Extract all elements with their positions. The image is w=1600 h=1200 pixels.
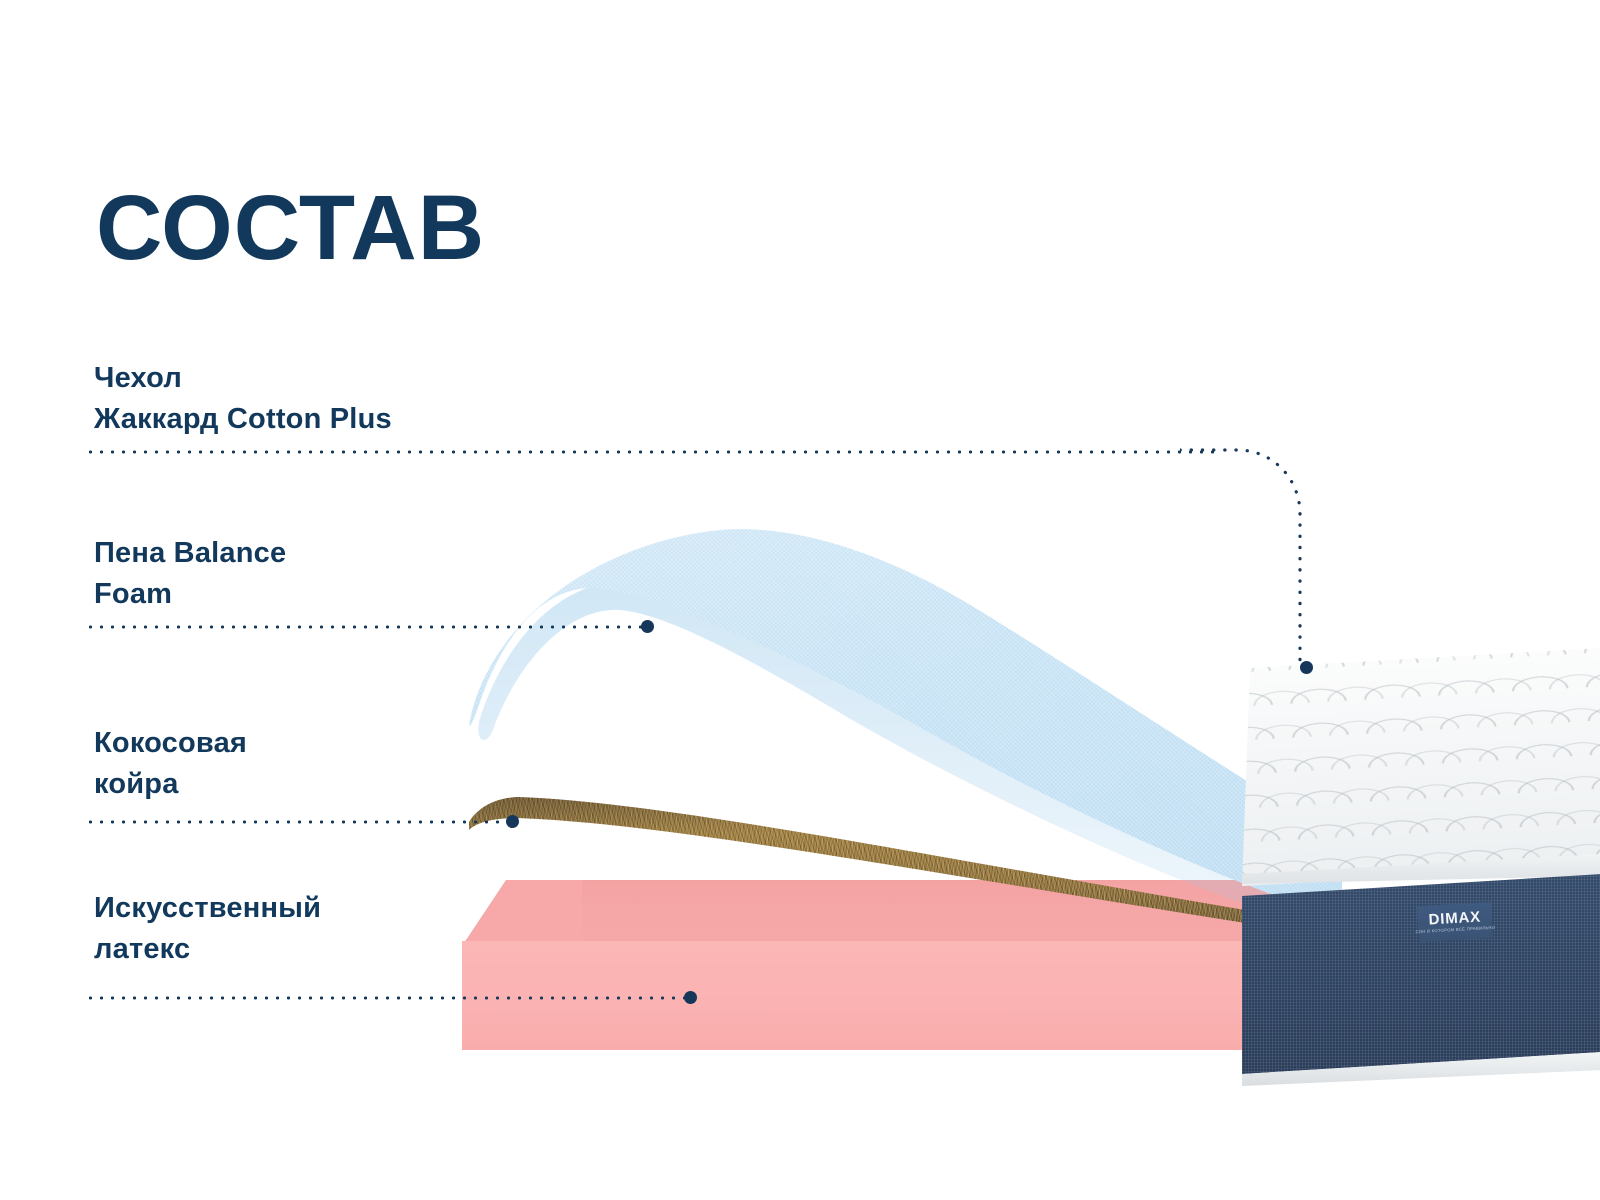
brand-tagline: СОН В КОТОРОМ ВСЁ ПРАВИЛЬНО [1415,926,1495,935]
leader-line-cover-elbow [1180,430,1340,680]
composition-infographic: СОСТАВ DIMAX СОН В КОТОРОМ ВСЁ ПРАВИЛЬНО [0,0,1600,1200]
leader-endpoint-foam [641,620,654,633]
layer-label-cover: Чехол Жаккард Cotton Plus [94,358,392,440]
quilt-pattern [1242,648,1600,886]
leader-line-coir [85,820,513,824]
layer-label-coir: Кокосовая койра [94,723,247,805]
leader-endpoint-cover [1300,661,1313,674]
cover-layer: DIMAX СОН В КОТОРОМ ВСЁ ПРАВИЛЬНО [1242,648,1600,1088]
cover-side-fabric: DIMAX СОН В КОТОРОМ ВСЁ ПРАВИЛЬНО [1242,874,1600,1084]
leader-endpoint-latex [684,991,697,1004]
latex-corner-face [462,880,582,950]
leader-line-latex [85,996,691,1000]
cover-quilted-top [1242,648,1600,886]
leader-line-foam [85,625,645,629]
brand-name: DIMAX [1428,910,1481,928]
dimax-logo-badge: DIMAX СОН В КОТОРОМ ВСЁ ПРАВИЛЬНО [1417,902,1493,942]
layer-label-latex: Искусственный латекс [94,888,321,970]
layer-label-foam: Пена Balance Foam [94,533,286,615]
leader-endpoint-coir [506,815,519,828]
leader-line-cover [85,450,1215,454]
